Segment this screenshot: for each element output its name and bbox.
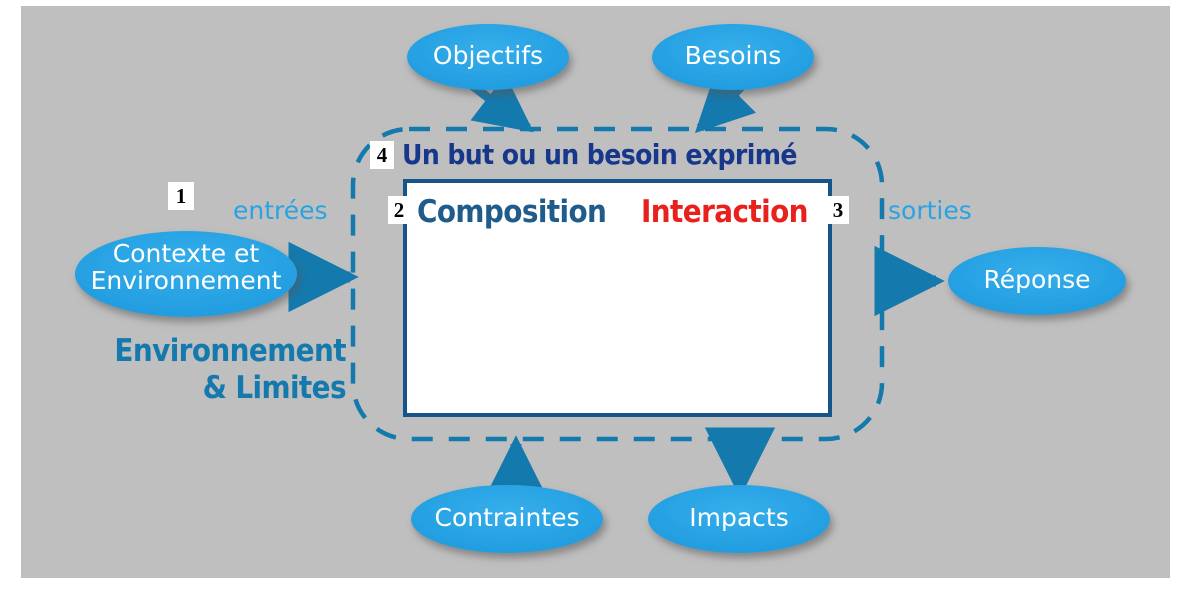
ellipse-contexte[interactable] <box>75 231 297 317</box>
badge-2: 2 <box>388 196 410 224</box>
composition-title: Composition <box>417 194 606 230</box>
goal-title: Un but ou un besoin exprimé <box>402 138 797 171</box>
ellipse-besoins[interactable] <box>652 24 814 90</box>
ellipse-contraintes[interactable] <box>411 485 603 553</box>
ellipse-impacts[interactable] <box>648 485 830 553</box>
ellipse-reponse[interactable] <box>948 247 1126 315</box>
badge-4: 4 <box>370 141 394 169</box>
interaction-title: Interaction <box>641 194 808 230</box>
arrow-objectifs-to-system <box>469 83 528 128</box>
badge-3: 3 <box>827 196 849 224</box>
ellipse-objectifs[interactable] <box>407 24 569 90</box>
diagram-canvas: Un but ou un besoin exprimé Composition … <box>0 0 1193 609</box>
inputs-label: entrées <box>233 196 328 225</box>
outputs-label: sorties <box>888 196 972 225</box>
environment-limits-caption: Environnement & Limites <box>78 333 346 406</box>
badge-1: 1 <box>168 182 194 210</box>
